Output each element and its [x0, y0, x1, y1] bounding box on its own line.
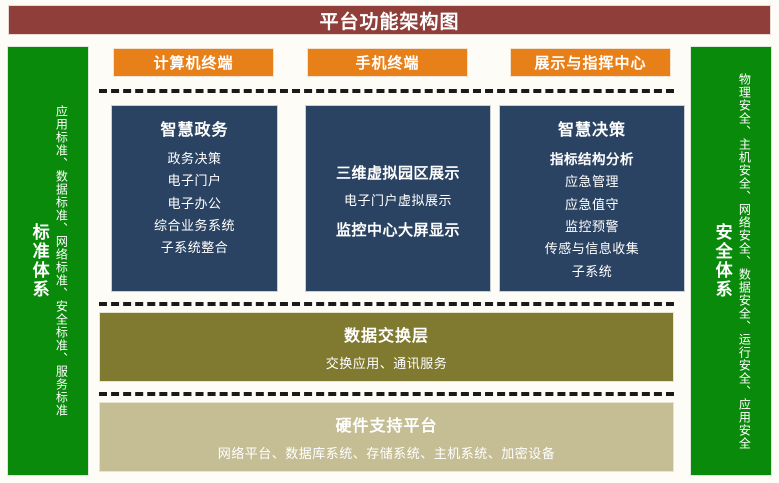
- divider-application-exchange: [99, 302, 674, 306]
- panel-3-item-3: 监控预警: [500, 217, 684, 239]
- terminal-mobile[interactable]: 手机终端: [307, 48, 468, 77]
- panel-smart-government[interactable]: 智慧政务 政务决策 电子门户 电子办公 综合业务系统 子系统整合: [111, 105, 278, 292]
- architecture-diagram: 平台功能架构图 应用标准、数据标准、网络标准、安全标准、服务标准 标准体系 安全…: [0, 0, 779, 483]
- panel-2-item-2: 监控中心大屏显示: [306, 215, 490, 246]
- panel-2-inner: 三维虚拟园区展示 电子门户虚拟展示 监控中心大屏显示: [306, 116, 490, 246]
- panel-virtual-display[interactable]: 三维虚拟园区展示 电子门户虚拟展示 监控中心大屏显示: [305, 105, 491, 292]
- panel-1-item-4: 子系统整合: [112, 238, 277, 260]
- layer-hardware-support[interactable]: 硬件支持平台 网络平台、数据库系统、存储系统、主机系统、加密设备: [99, 402, 674, 472]
- panel-smart-decision[interactable]: 智慧决策 指标结构分析 应急管理 应急值守 监控预警 传感与信息收集 子系统: [499, 105, 685, 292]
- panel-1-item-3: 综合业务系统: [112, 216, 277, 238]
- right-rail-title: 安全体系: [709, 223, 734, 299]
- diagram-title: 平台功能架构图: [8, 5, 771, 35]
- layer-data-exchange[interactable]: 数据交换层 交换应用、通讯服务: [99, 312, 674, 382]
- right-rail-security-system: 安全体系 物理安全、主机安全、网络安全、数据安全、运行安全、应用安全: [690, 46, 772, 476]
- layer-hardware-support-title: 硬件支持平台: [335, 412, 437, 436]
- right-rail-subtitle: 物理安全、主机安全、网络安全、数据安全、运行安全、应用安全: [734, 73, 754, 450]
- panel-1-item-2: 电子办公: [112, 194, 277, 216]
- panel-1-inner: 智慧政务 政务决策 电子门户 电子办公 综合业务系统 子系统整合: [112, 116, 277, 261]
- panel-3-item-2: 应急值守: [500, 195, 684, 217]
- panel-2-item-0: 三维虚拟园区展示: [306, 158, 490, 189]
- layer-data-exchange-title: 数据交换层: [344, 322, 429, 346]
- left-rail-title: 标准体系: [26, 223, 51, 299]
- panel-1-item-1: 电子门户: [112, 171, 277, 193]
- panel-1-item-0: 政务决策: [112, 149, 277, 171]
- terminal-computer[interactable]: 计算机终端: [113, 48, 274, 77]
- layer-hardware-support-subtitle: 网络平台、数据库系统、存储系统、主机系统、加密设备: [218, 443, 556, 462]
- panel-3-item-5: 子系统: [500, 262, 684, 284]
- left-rail-standards-system: 应用标准、数据标准、网络标准、安全标准、服务标准 标准体系: [7, 46, 89, 476]
- divider-exchange-hardware: [99, 392, 674, 396]
- panel-3-item-0: 指标结构分析: [500, 149, 684, 172]
- terminal-display-command-center[interactable]: 展示与指挥中心: [510, 48, 671, 77]
- layer-data-exchange-subtitle: 交换应用、通讯服务: [326, 353, 448, 372]
- panel-3-item-1: 应急管理: [500, 172, 684, 194]
- panel-1-title: 智慧政务: [112, 116, 277, 140]
- panel-3-item-4: 传感与信息收集: [500, 239, 684, 261]
- panel-3-inner: 智慧决策 指标结构分析 应急管理 应急值守 监控预警 传感与信息收集 子系统: [500, 116, 684, 284]
- divider-terminal-application: [99, 89, 674, 93]
- panel-2-item-1: 电子门户虚拟展示: [306, 189, 490, 216]
- left-rail-subtitle: 应用标准、数据标准、网络标准、安全标准、服务标准: [51, 105, 71, 417]
- panel-3-title: 智慧决策: [500, 116, 684, 140]
